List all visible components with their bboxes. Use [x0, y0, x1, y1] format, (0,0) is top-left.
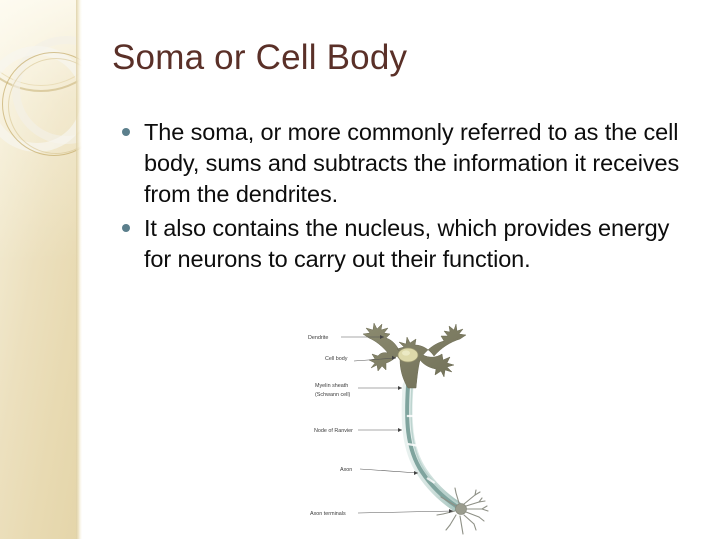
neuron-diagram: Dendrite Cell body Myelin sheath (Schwan… — [296, 312, 536, 537]
nucleolus-shape — [402, 350, 410, 355]
diagram-label-axon-terminals: Axon terminals — [310, 511, 346, 517]
bullet-text: It also contains the nucleus, which prov… — [144, 213, 697, 275]
bullet-text: The soma, or more commonly referred to a… — [144, 117, 697, 210]
sidebar-edge — [76, 0, 82, 539]
diagram-label-cell-body: Cell body — [325, 356, 348, 362]
diagram-label-node-of-ranvier: Node of Ranvier — [314, 428, 353, 434]
diagram-label-schwann-cell: (Schwann cell) — [315, 392, 351, 398]
diagram-label-axon: Axon — [340, 467, 352, 473]
bullet-dot-icon — [122, 224, 130, 232]
slide-canvas: Soma or Cell Body The soma, or more comm… — [0, 0, 720, 539]
bullet-list: The soma, or more commonly referred to a… — [122, 117, 697, 278]
list-item: The soma, or more commonly referred to a… — [122, 117, 697, 210]
list-item: It also contains the nucleus, which prov… — [122, 213, 697, 275]
decorative-sidebar — [0, 0, 82, 539]
slide-title: Soma or Cell Body — [112, 36, 672, 80]
diagram-label-dendrite: Dendrite — [308, 335, 328, 341]
bullet-dot-icon — [122, 128, 130, 136]
diagram-label-myelin-sheath: Myelin sheath — [315, 383, 348, 389]
